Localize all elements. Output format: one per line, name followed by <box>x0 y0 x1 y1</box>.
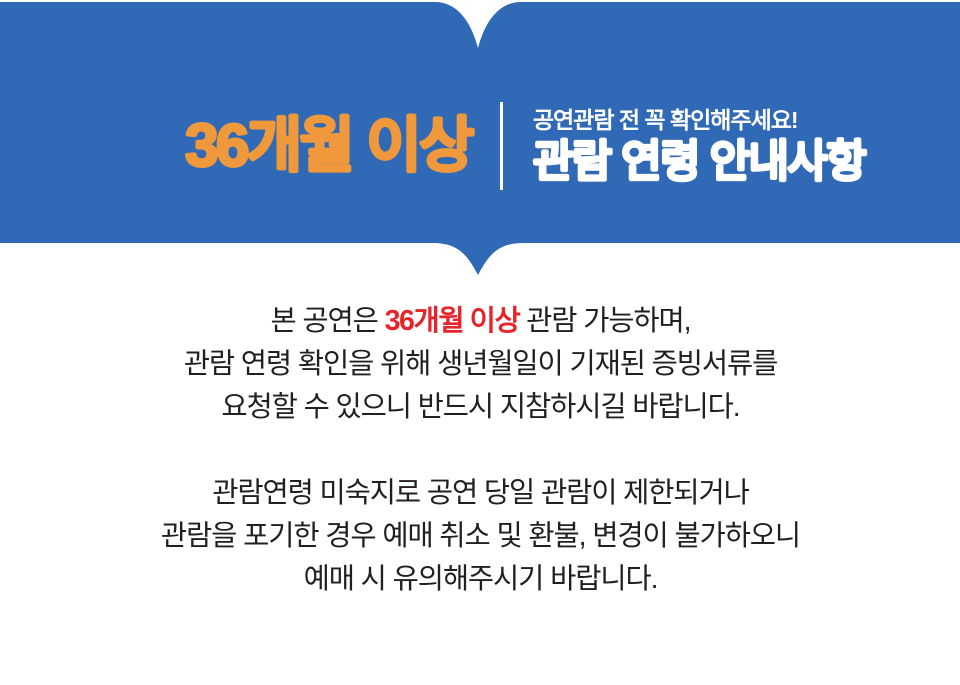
line-text-after: 관람 가능하며, <box>519 305 690 337</box>
notice-paragraph-1: 본 공연은 36개월 이상 관람 가능하며, 관람 연령 확인을 위해 생년월일… <box>46 300 915 429</box>
notice-line: 요청할 수 있으니 반드시 지참하시길 바랍니다. <box>46 386 915 429</box>
age-highlight: 36개월 이상 <box>385 305 520 337</box>
page-title: 관람 연령 안내사항 <box>533 140 865 184</box>
header-left-group: 36개월 이상 <box>95 116 500 176</box>
notice-paragraph-2: 관람연령 미숙지로 공연 당일 관람이 제한되거나 관람을 포기한 경우 예매 … <box>46 472 915 601</box>
header-kicker-text: 공연관람 전 꼭 확인해주세요! <box>533 108 798 133</box>
age-limit-badge: 36개월 이상 <box>185 116 472 176</box>
notice-line: 예매 시 유의해주시기 바랍니다. <box>46 558 915 601</box>
header-right-group: 공연관람 전 꼭 확인해주세요! 관람 연령 안내사항 <box>503 96 865 196</box>
notice-line: 관람 연령 확인을 위해 생년월일이 기재된 증빙서류를 <box>46 343 915 386</box>
poster-header: 36개월 이상 공연관람 전 꼭 확인해주세요! 관람 연령 안내사항 <box>0 86 960 206</box>
notice-line: 관람을 포기한 경우 예매 취소 및 환불, 변경이 불가하오니 <box>46 515 915 558</box>
line-text-before: 본 공연은 <box>270 305 384 337</box>
age-guide-poster: 36개월 이상 공연관람 전 꼭 확인해주세요! 관람 연령 안내사항 본 공연… <box>0 0 960 685</box>
notice-line: 본 공연은 36개월 이상 관람 가능하며, <box>46 300 915 343</box>
notice-body: 본 공연은 36개월 이상 관람 가능하며, 관람 연령 확인을 위해 생년월일… <box>46 300 915 601</box>
notice-line: 관람연령 미숙지로 공연 당일 관람이 제한되거나 <box>46 472 915 515</box>
